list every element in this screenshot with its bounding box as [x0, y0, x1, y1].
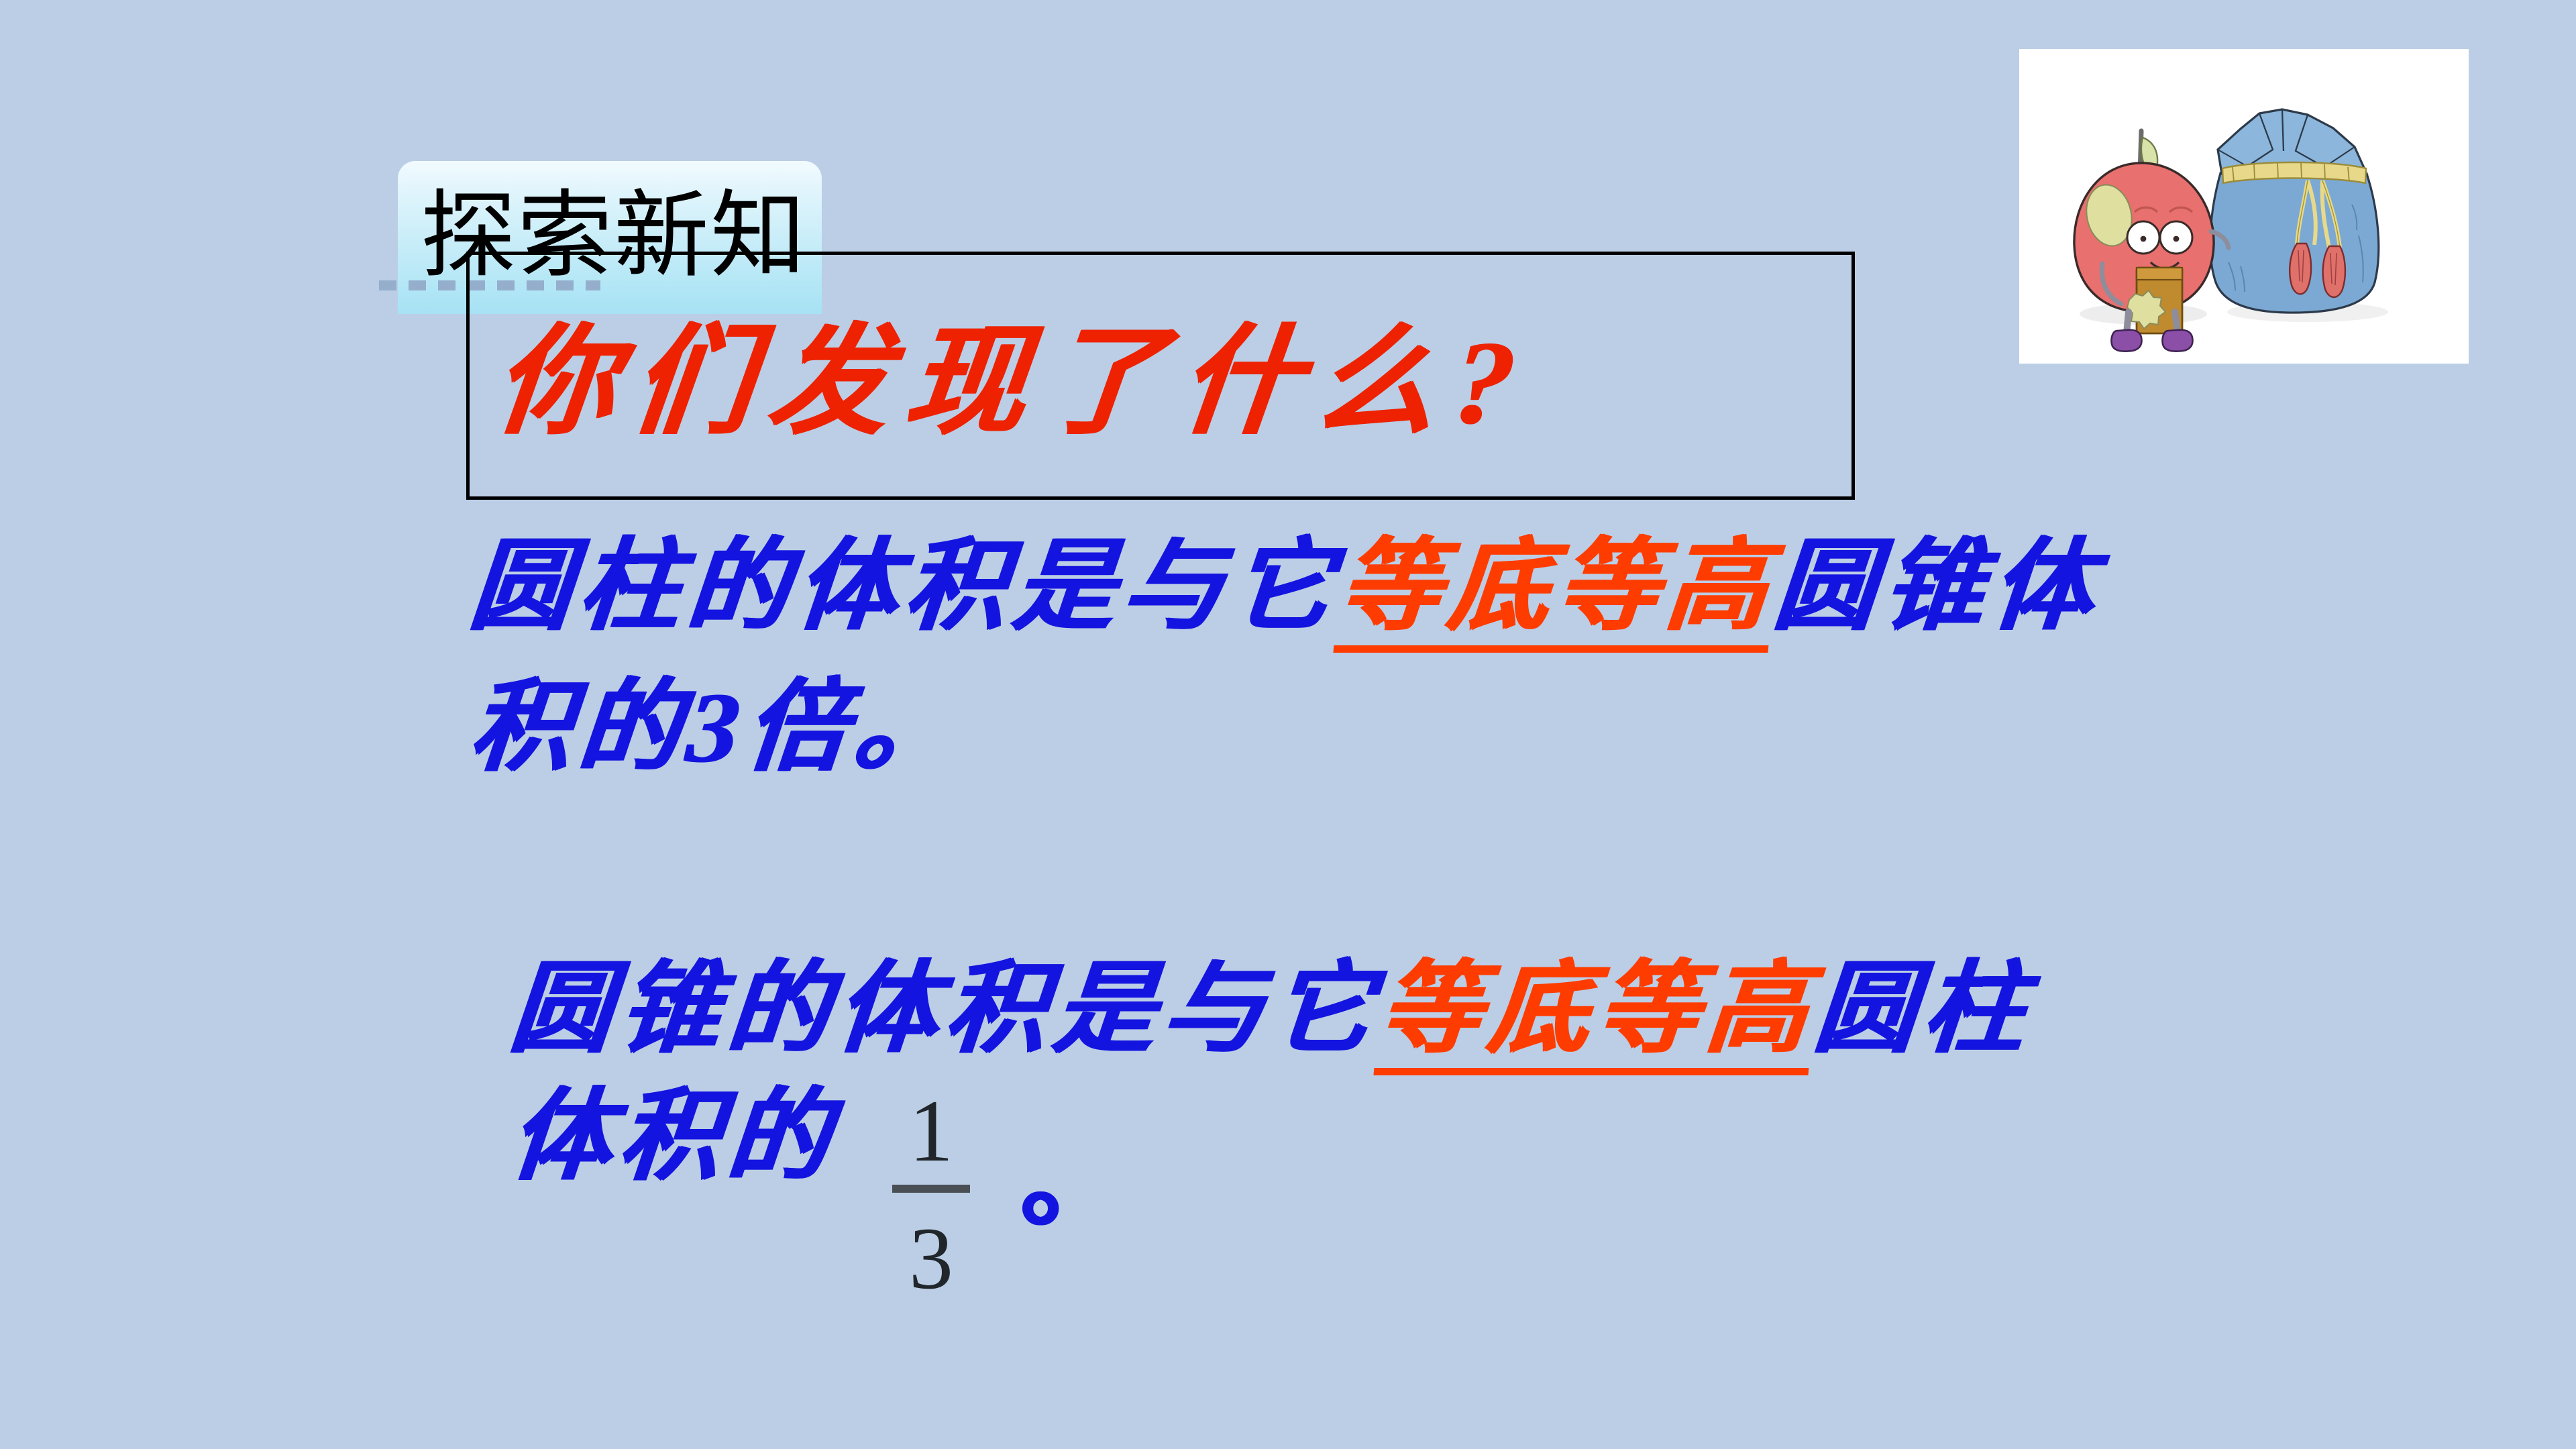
cone-rule-part3: 体积的 — [505, 1081, 841, 1193]
cylinder-rule-part1: 圆柱的体积是与它 — [465, 531, 1344, 643]
cone-rule-period: 。 — [1020, 1134, 1120, 1234]
cone-rule-part2: 圆柱 — [1809, 954, 2037, 1065]
cylinder-rule-part3: 积的3倍。 — [465, 672, 968, 784]
apple-and-sack-illustration — [2019, 49, 2469, 364]
cone-rule-part1: 圆锥的体积是与它 — [505, 954, 1385, 1065]
clipart-panel — [2019, 49, 2469, 364]
fraction-denominator: 3 — [884, 1214, 978, 1303]
cylinder-rule-line2: 积的3倍。 — [465, 678, 967, 778]
cone-rule-line2: 体积的 — [505, 1087, 840, 1187]
fraction-one-third: 1 3 — [884, 1087, 978, 1295]
cone-rule-line1: 圆锥的体积是与它等底等高圆柱 — [505, 959, 2035, 1060]
cylinder-rule-line1: 圆柱的体积是与它等底等高圆锥体 — [465, 537, 2104, 637]
cylinder-rule-part2: 圆锥体 — [1769, 531, 2105, 643]
question-text: 你们发现了什么? — [487, 285, 1847, 458]
cylinder-rule-highlight: 等底等高 — [1333, 531, 1778, 653]
fraction-bar — [892, 1185, 970, 1193]
cone-rule-highlight: 等底等高 — [1373, 954, 1819, 1075]
slide-canvas: 探索新知 你们发现了什么? 圆柱的体积是与它等底等高圆锥体 积的3倍。 圆锥的体… — [0, 0, 2576, 1449]
fraction-numerator: 1 — [884, 1087, 978, 1175]
